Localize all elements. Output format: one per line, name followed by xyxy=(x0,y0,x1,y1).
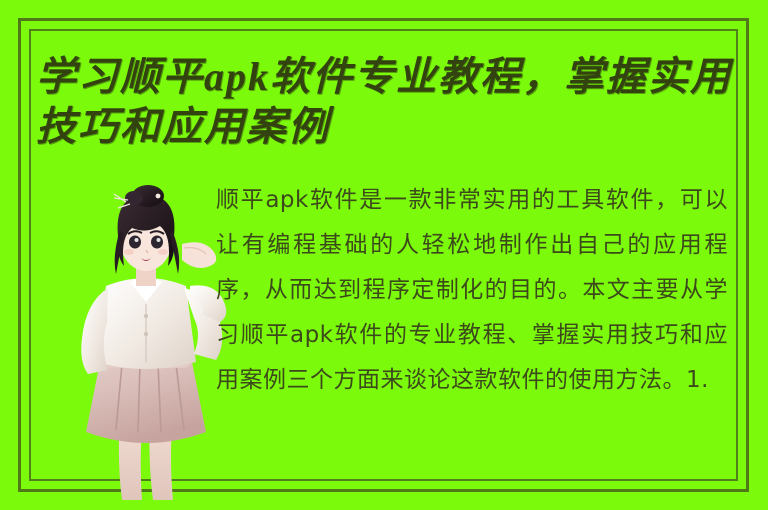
poster-body-text: 顺平apk软件是一款非常实用的工具软件，可以让有编程基础的人轻松地制作出自己的应… xyxy=(216,178,728,403)
poster-canvas: 学习顺平apk软件专业教程，掌握实用技巧和应用案例 xyxy=(0,0,768,510)
illustration-head xyxy=(114,185,179,274)
poster-headline: 学习顺平apk软件专业教程，掌握实用技巧和应用案例 xyxy=(36,52,736,152)
anime-girl-illustration xyxy=(62,182,230,504)
